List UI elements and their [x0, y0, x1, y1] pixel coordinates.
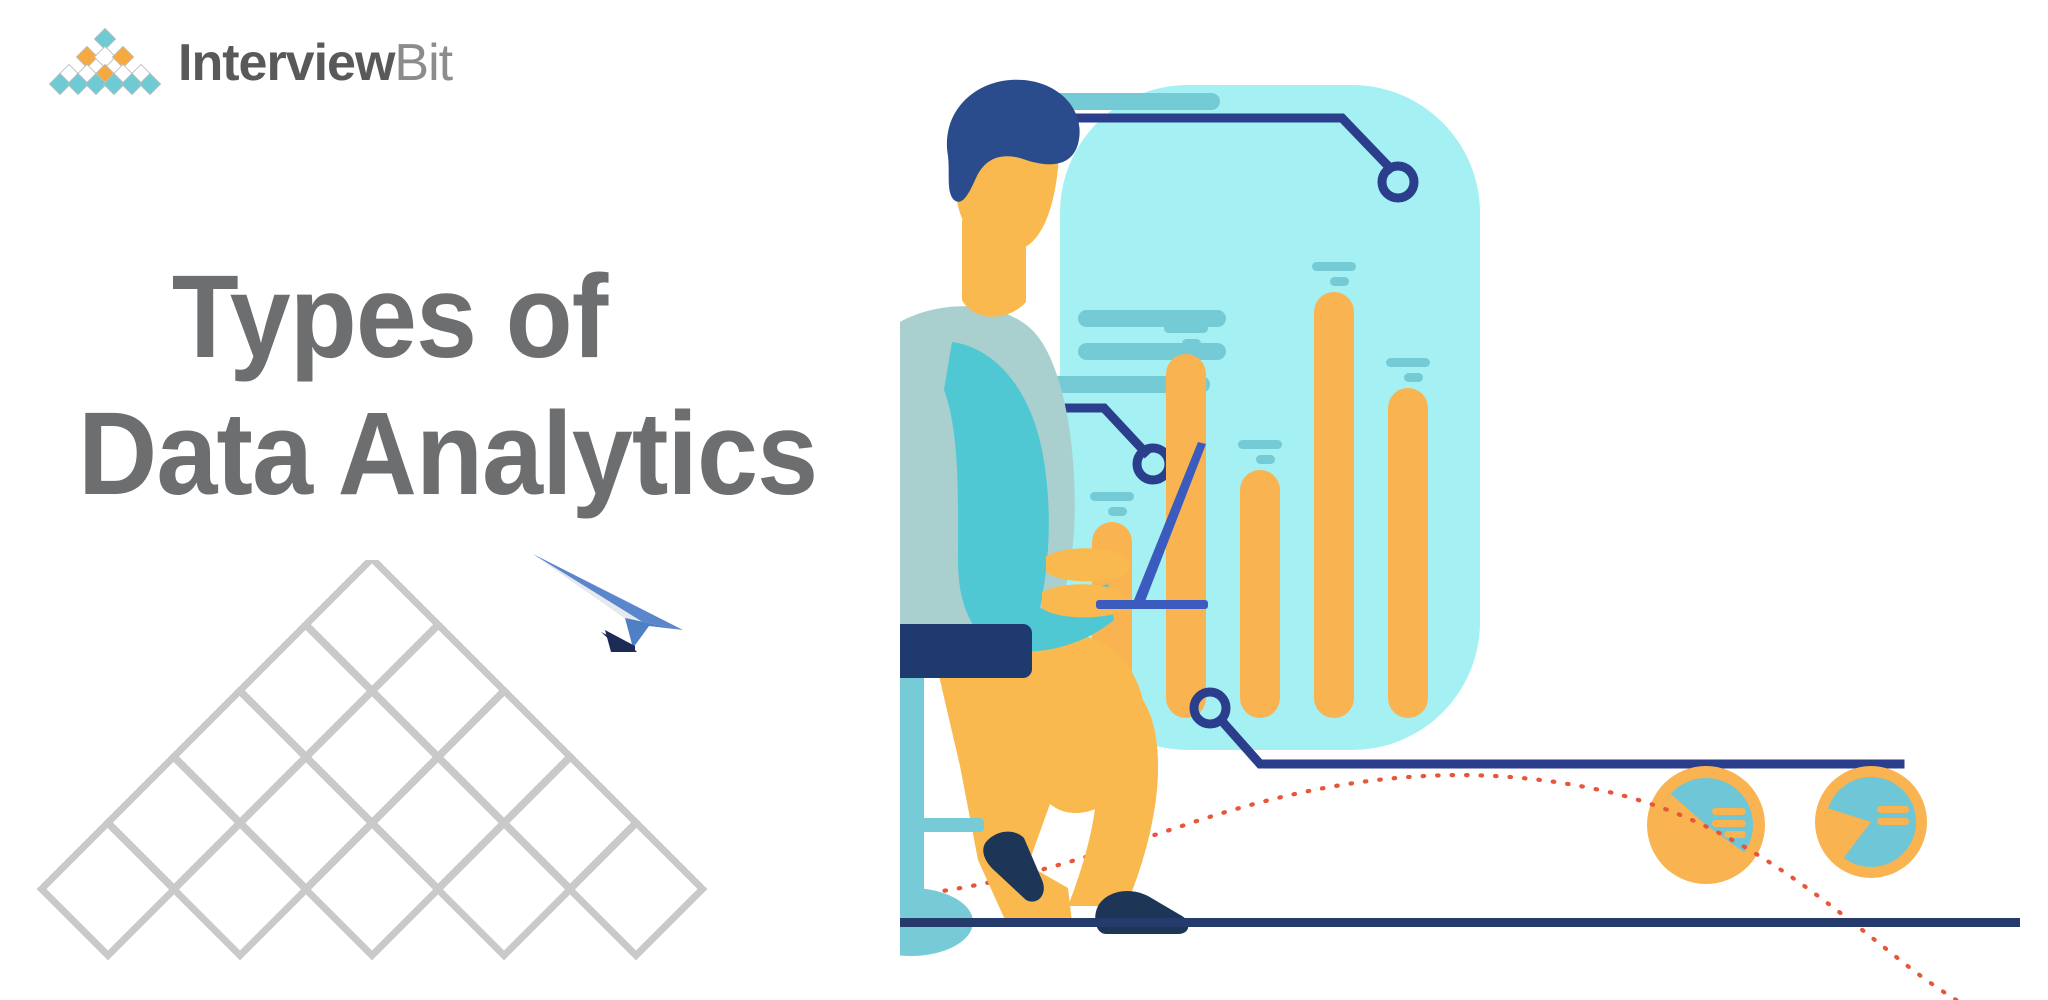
stool-footrest [900, 818, 984, 832]
bar-1-label-short [1108, 507, 1127, 516]
person-hand-upper [1046, 548, 1130, 581]
banner-canvas: InterviewBit Types of Data Analytics [0, 0, 2048, 1000]
airplane-top-wing [533, 554, 683, 630]
data-analytics-illustration [900, 60, 2020, 1000]
bar-2 [1166, 354, 1206, 718]
wordmark-interview: Interview [178, 34, 394, 92]
bar-5 [1388, 388, 1428, 718]
bar-3-label-long [1238, 440, 1282, 449]
bar-3-group [1238, 440, 1282, 718]
stool-seat [900, 624, 1032, 678]
bar-1-label-long [1090, 492, 1134, 501]
page-title-line-2: Data Analytics [78, 386, 915, 523]
bar-2-label-long [1164, 324, 1208, 333]
bar-4 [1314, 292, 1354, 718]
logo-wordmark: InterviewBit [178, 37, 452, 89]
laptop-base [1096, 600, 1208, 609]
bar-5-group [1386, 358, 1430, 718]
paper-airplane-svg [525, 540, 735, 680]
interviewbit-logo[interactable]: InterviewBit [46, 28, 452, 98]
page-title: Types of Data Analytics [78, 249, 915, 523]
page-title-line-1: Types of [78, 249, 915, 386]
bar-3-label-short [1256, 455, 1275, 464]
bar-5-label-short [1404, 373, 1423, 382]
person-shoe-front [1095, 891, 1188, 934]
stool-post [900, 678, 924, 898]
bar-5-label-long [1386, 358, 1430, 367]
wordmark-bit: Bit [394, 34, 452, 92]
logo-pyramid-svg [46, 28, 164, 98]
illustration-svg [900, 60, 2020, 1000]
bar-4-label-long [1312, 262, 1356, 271]
bar-4-group [1312, 262, 1356, 718]
ground-line [900, 918, 2020, 927]
paper-airplane [525, 540, 735, 680]
bar-2-label-short [1182, 339, 1201, 348]
logo-pyramid-icon [46, 28, 164, 98]
bar-3 [1240, 470, 1280, 718]
pie-chart-right [1815, 766, 1927, 878]
text-bar-mid-2 [1078, 343, 1226, 360]
bar-4-label-short [1330, 277, 1349, 286]
